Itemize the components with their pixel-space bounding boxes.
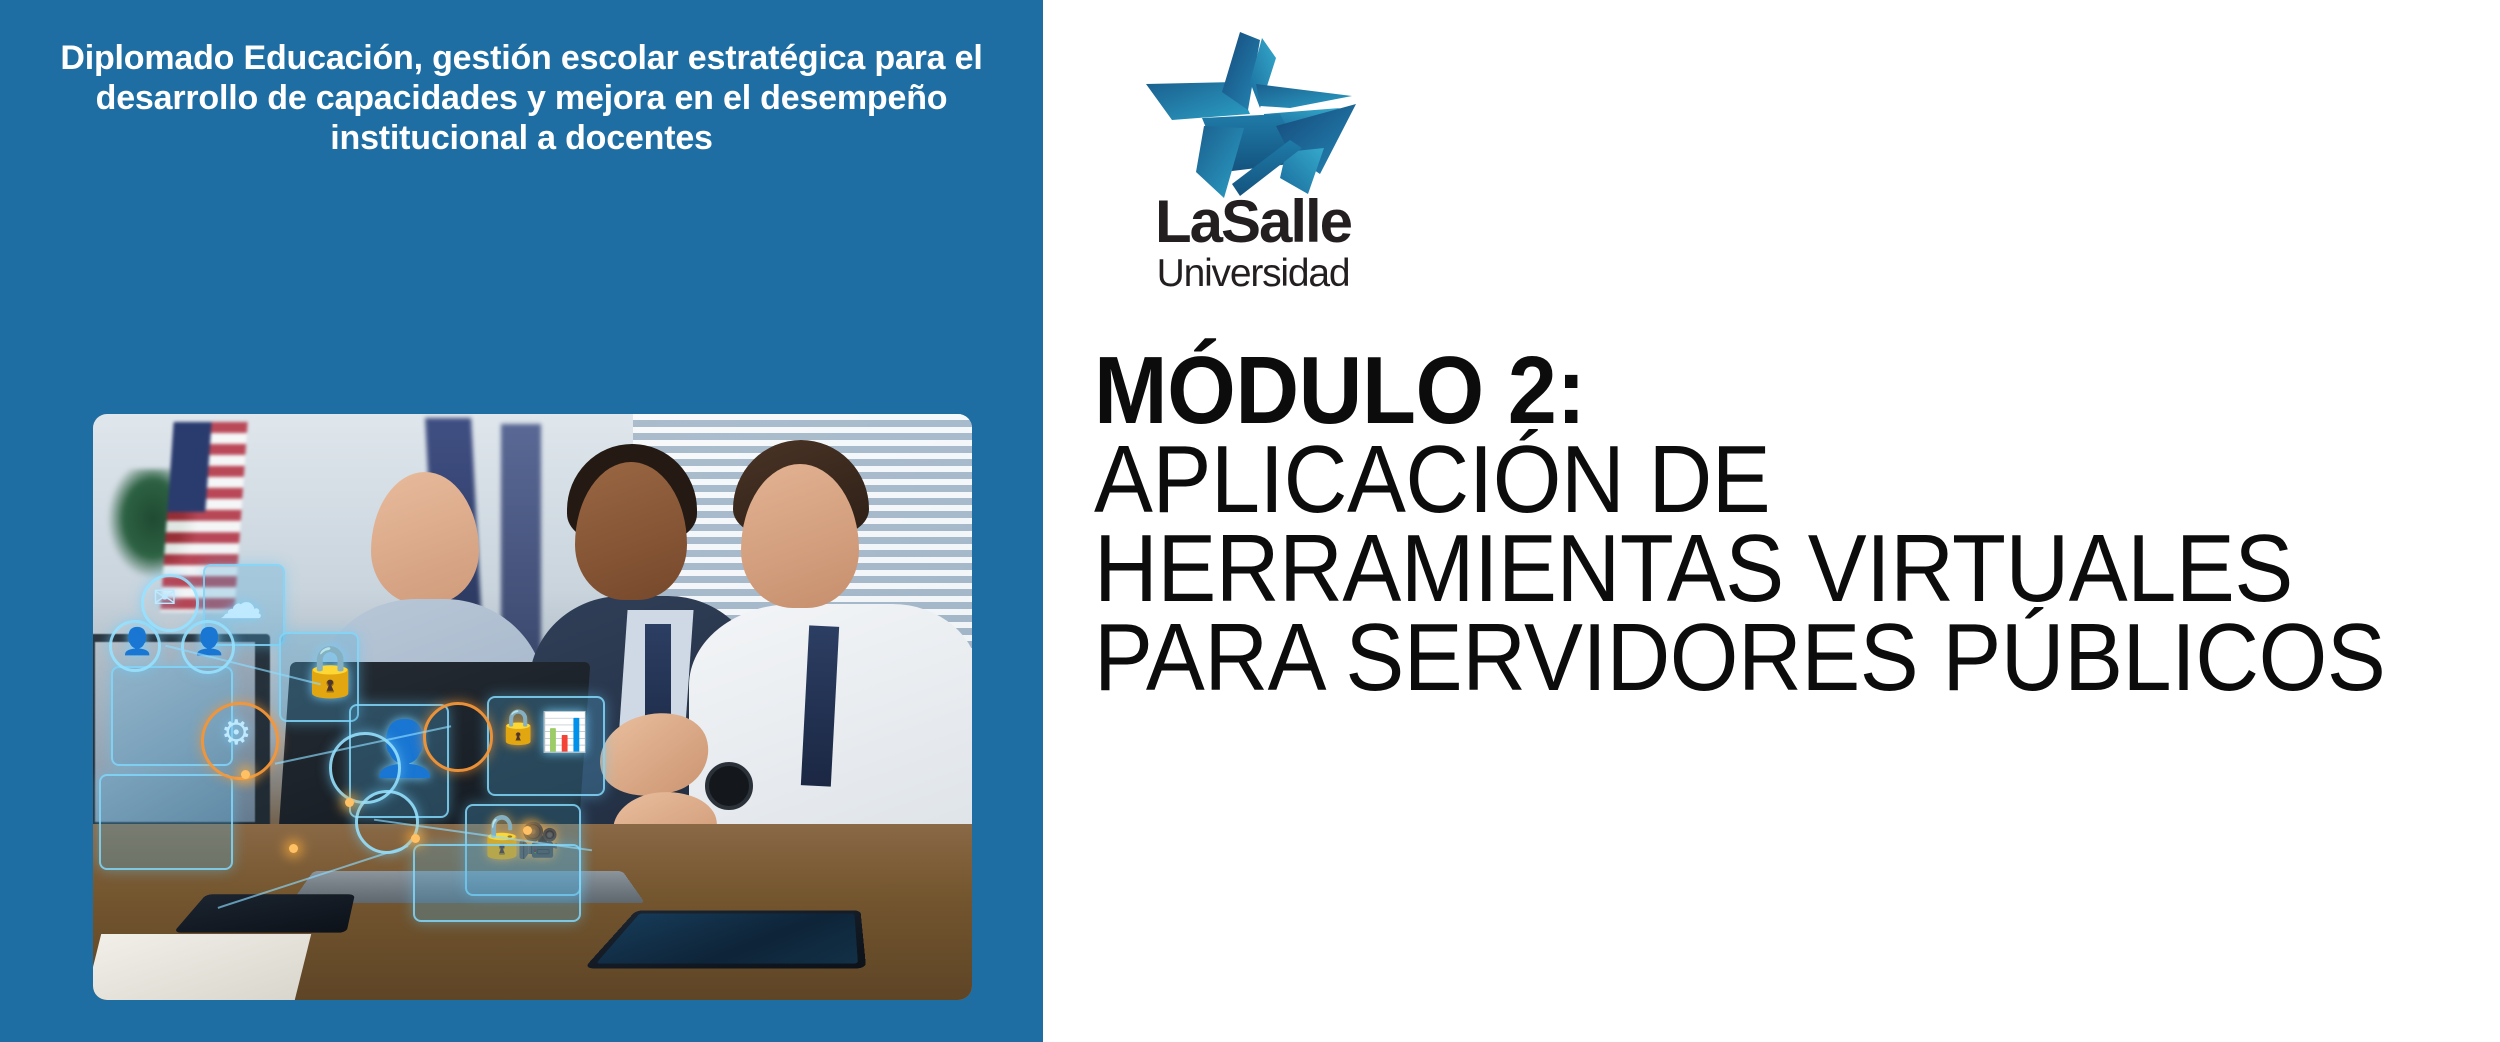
- paper-documents: [93, 934, 311, 1000]
- smartphone-device: [173, 894, 355, 932]
- module-subtitle-line-1: APLICACIÓN DE: [1094, 435, 2336, 524]
- photo-background: ☁ 🔒 👤 🔒 📊 🔓 🎥 👤: [93, 414, 972, 1000]
- usa-flag: [160, 422, 247, 612]
- left-blue-panel: Diplomado Educación, gestión escolar est…: [0, 0, 1043, 1042]
- slide-canvas: Diplomado Educación, gestión escolar est…: [0, 0, 2500, 1042]
- wristwatch: [705, 762, 753, 810]
- hero-photo: ☁ 🔒 👤 🔒 📊 🔓 🎥 👤: [93, 414, 972, 1000]
- course-title: Diplomado Educación, gestión escolar est…: [50, 38, 993, 158]
- logo-wordmark: LaSalle Universidad: [1118, 192, 1388, 293]
- logo-universidad-text: Universidad: [1118, 254, 1388, 293]
- star-icon: [1140, 22, 1366, 202]
- module-subtitle-line-3: PARA SERVIDORES PÚBLICOS: [1094, 613, 2336, 702]
- lasalle-logo: LaSalle Universidad: [1118, 4, 1388, 294]
- module-title-block: MÓDULO 2: APLICACIÓN DE HERRAMIENTAS VIR…: [1094, 346, 2444, 702]
- module-subtitle-line-2: HERRAMIENTAS VIRTUALES: [1094, 524, 2336, 613]
- monitor-screen: [95, 642, 255, 822]
- logo-lasalle-text: LaSalle: [1118, 192, 1388, 252]
- module-heading: MÓDULO 2:: [1094, 346, 2336, 435]
- tablet-screen: [596, 913, 858, 963]
